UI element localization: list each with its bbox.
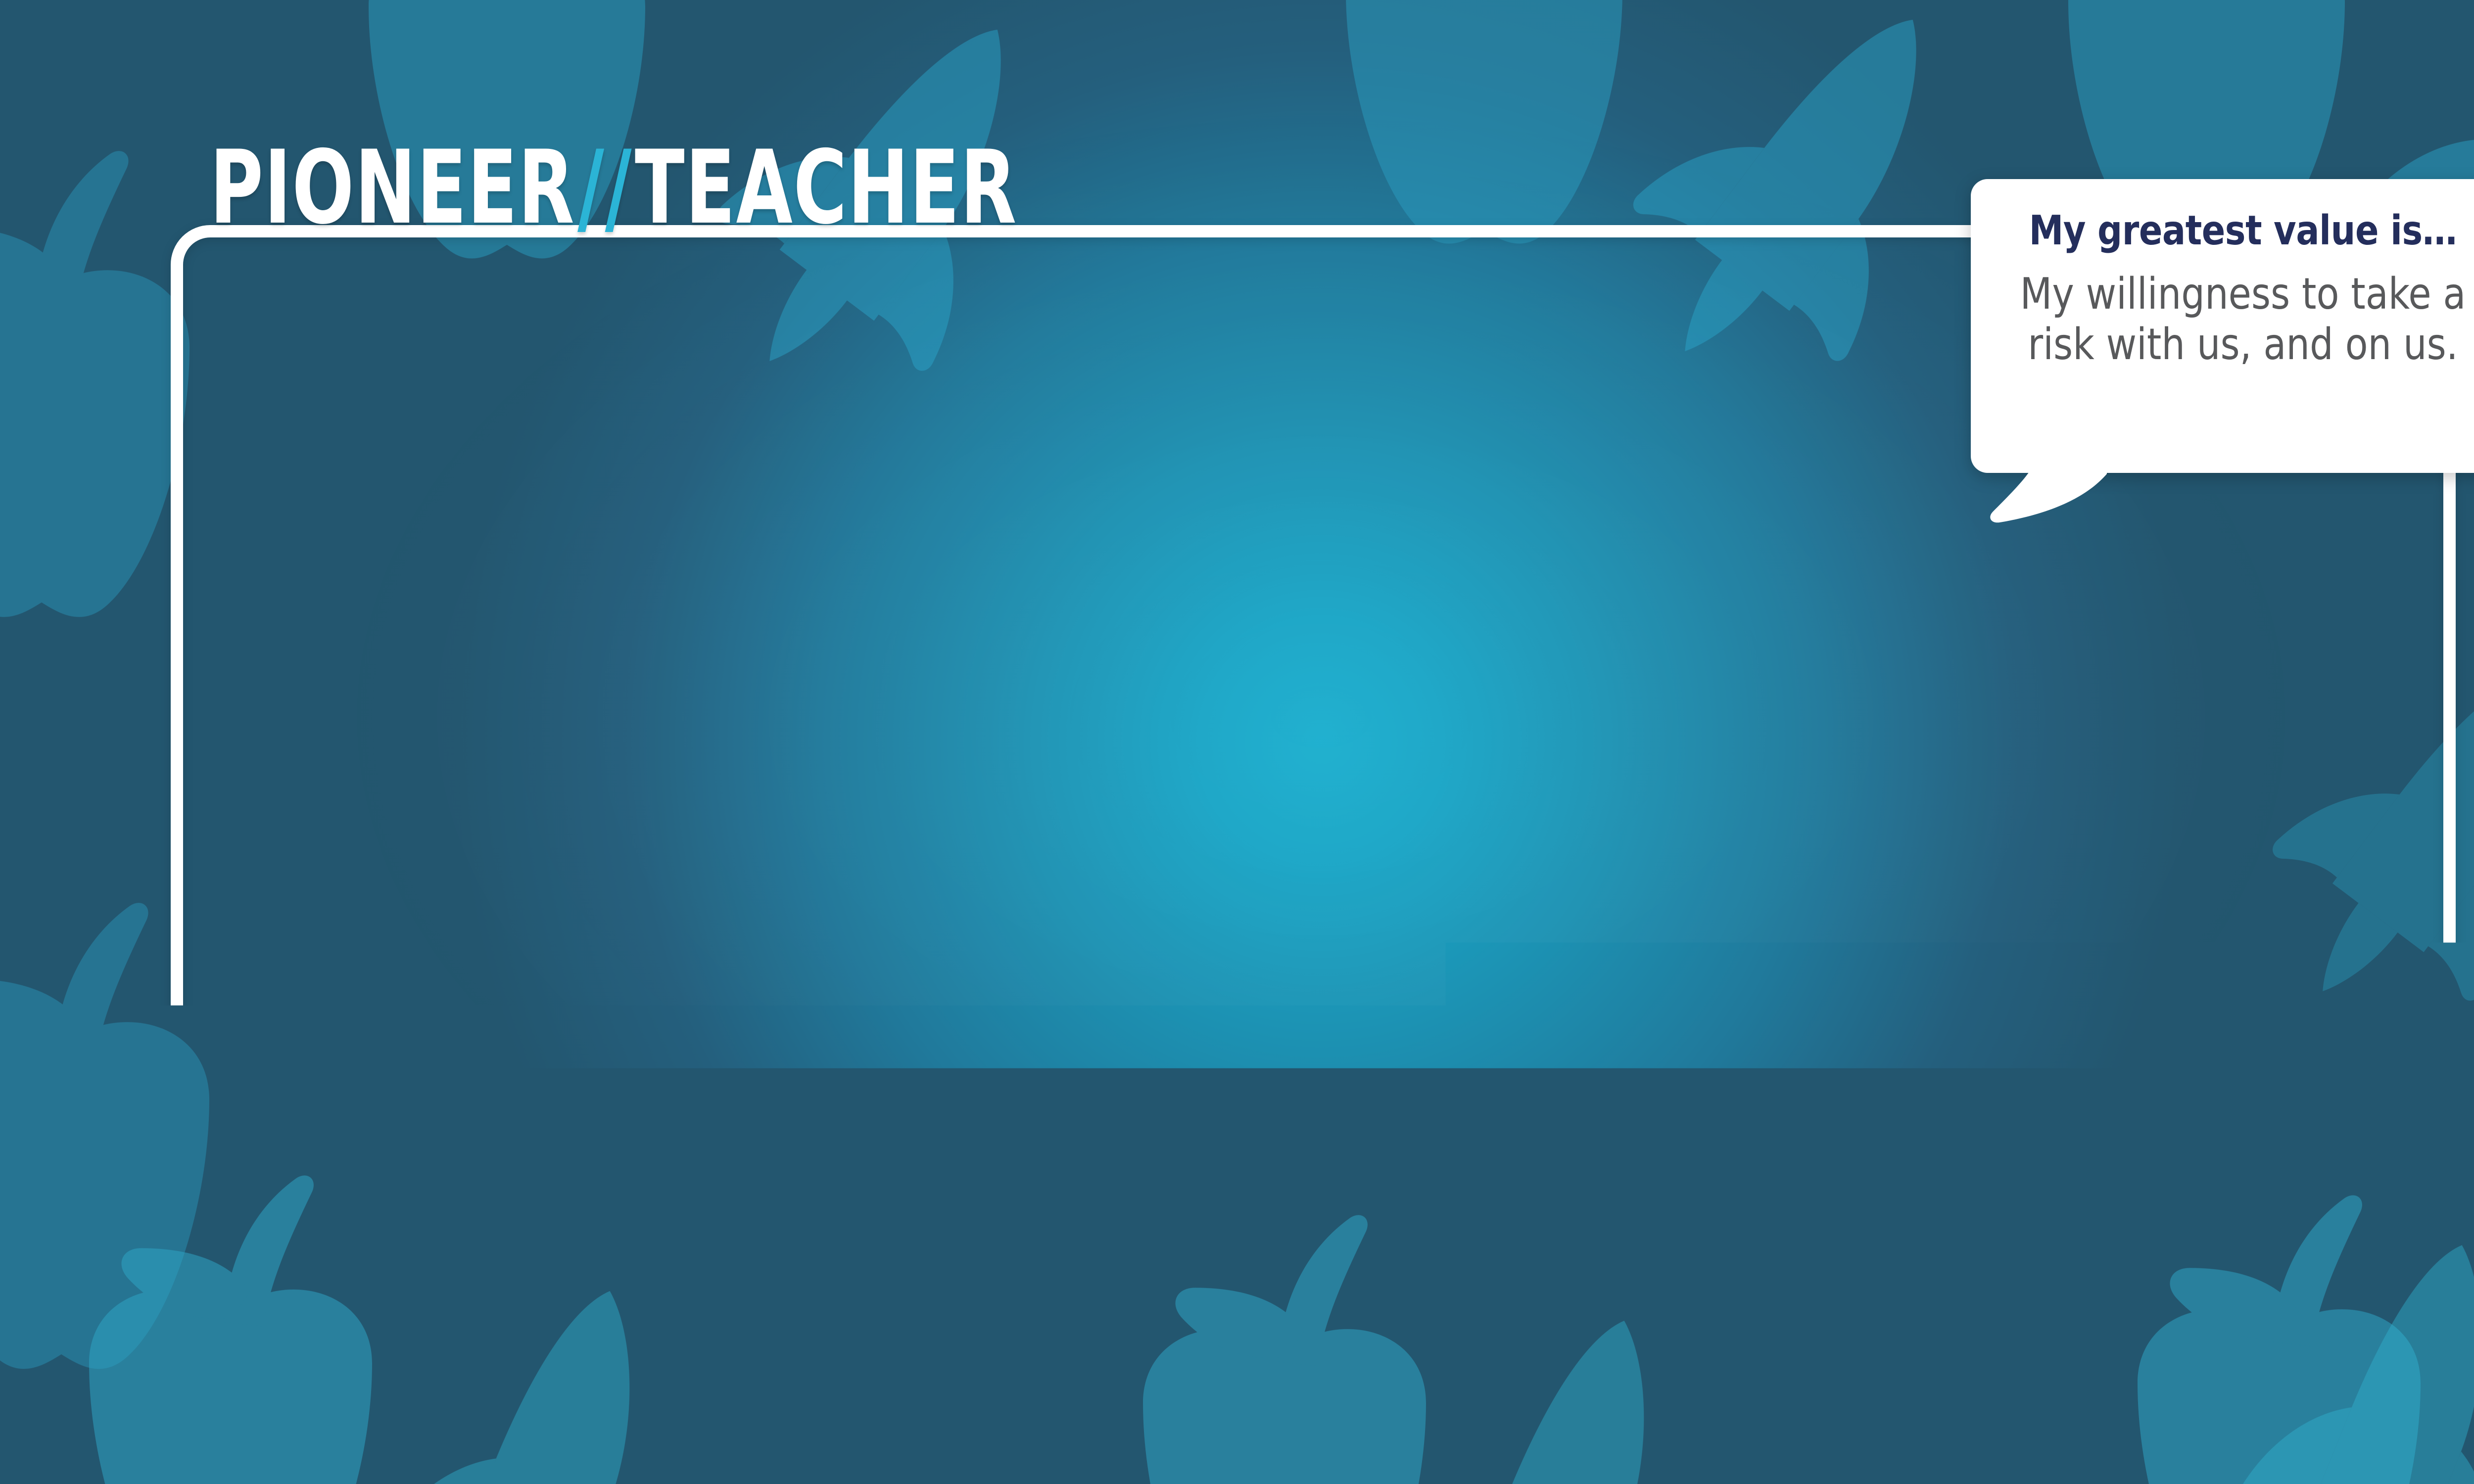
standout-tagline-text: Powered by	[2372, 1439, 2448, 1453]
page-title-right: TEACHER	[635, 144, 1017, 232]
callout-bubble-tail	[1988, 460, 2112, 524]
adp-logo-icon	[2453, 1437, 2474, 1455]
standout-tagline: Powered by	[2345, 1437, 2474, 1455]
page-title-left: PIONEER	[210, 144, 575, 232]
page-title-separator: //	[575, 144, 635, 232]
standout-wordmark-text: StandOut	[2345, 1380, 2474, 1432]
callout-body: My willingness to take a risk with us, a…	[2003, 269, 2474, 370]
page-title: PIONEER // TEACHER	[210, 118, 1017, 232]
standout-logo: StandOut® Powered by	[2345, 1383, 2474, 1455]
callout-heading: My greatest value is…	[2006, 211, 2474, 251]
standout-wordmark: StandOut®	[2345, 1383, 2474, 1430]
callout-bubble: My greatest value is… My willingness to …	[1971, 179, 2474, 473]
